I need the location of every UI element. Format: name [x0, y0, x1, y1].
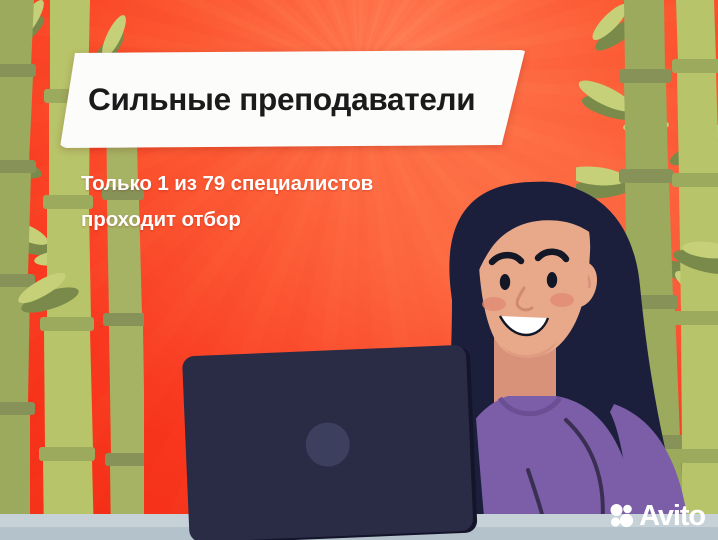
avito-wordmark: Avito: [639, 502, 705, 531]
subtitle-after: специалистов: [225, 172, 373, 195]
avito-dots-icon: [609, 503, 635, 529]
subtitle-before: Только: [81, 172, 157, 195]
advertisement-banner[interactable]: Сильные преподаватели Только 1 из 79 спе…: [0, 0, 718, 540]
subtitle-line-1: Только 1 из 79 специалистов: [81, 166, 501, 202]
subtitle-highlight: 1 из 79: [157, 172, 225, 195]
page-title: Сильные преподаватели: [58, 50, 530, 148]
subtitle-line-2: проходит отбор: [81, 202, 501, 238]
avito-logo[interactable]: Avito: [609, 500, 705, 532]
headline-banner: Сильные преподаватели: [58, 50, 530, 148]
subtitle-text: Только 1 из 79 специалистов проходит отб…: [81, 166, 501, 238]
